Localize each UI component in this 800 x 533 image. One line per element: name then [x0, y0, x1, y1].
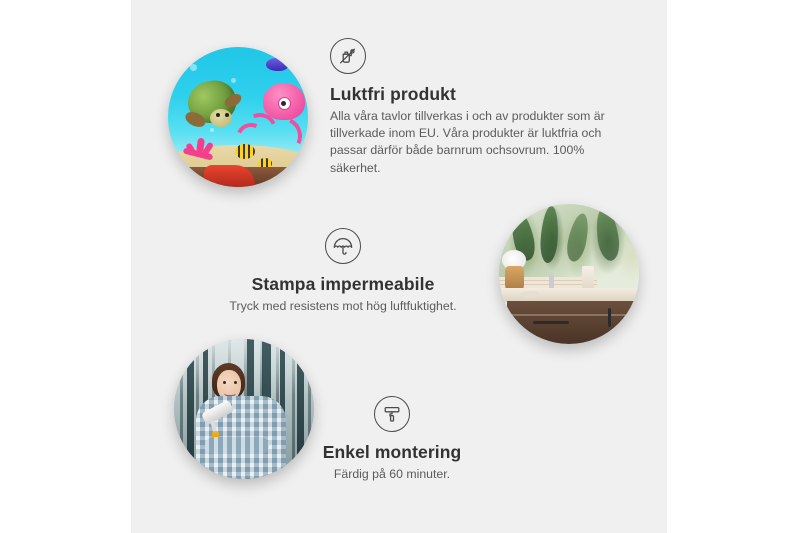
- no-fragrance-spray-icon: [330, 38, 366, 74]
- feature-description: Alla våra tavlor tillverkas i och av pro…: [330, 108, 620, 177]
- underwater-scene: [168, 47, 308, 187]
- paint-roller-icon: [374, 396, 410, 432]
- forest-scene: [174, 339, 314, 479]
- image-underwater-kids-mural: [168, 47, 308, 187]
- product-feature-banner: Luktfri produkt Alla våra tavlor tillver…: [0, 0, 800, 533]
- image-bathroom-botanical-wallpaper: [499, 204, 639, 344]
- feature-description: Tryck med resistens mot hög luftfuktighe…: [229, 298, 456, 315]
- coral: [179, 131, 221, 167]
- soap-dish: [521, 291, 539, 298]
- feature-title: Enkel montering: [323, 441, 462, 463]
- feature-title: Stampa impermeabile: [252, 273, 435, 295]
- feature-easy-install: Enkel montering Färdig på 60 minuter.: [302, 396, 482, 483]
- feature-waterproof: Stampa impermeabile Tryck med resistens …: [215, 228, 471, 315]
- vanity-cabinet: [507, 301, 639, 344]
- image-woman-paint-roller-forest: [174, 339, 314, 479]
- feature-odorless: Luktfri produkt Alla våra tavlor tillver…: [330, 38, 620, 177]
- umbrella-icon: [325, 228, 361, 264]
- feature-description: Färdig på 60 minuter.: [334, 466, 450, 483]
- bathroom-scene: [499, 204, 639, 344]
- feature-title: Luktfri produkt: [330, 83, 620, 105]
